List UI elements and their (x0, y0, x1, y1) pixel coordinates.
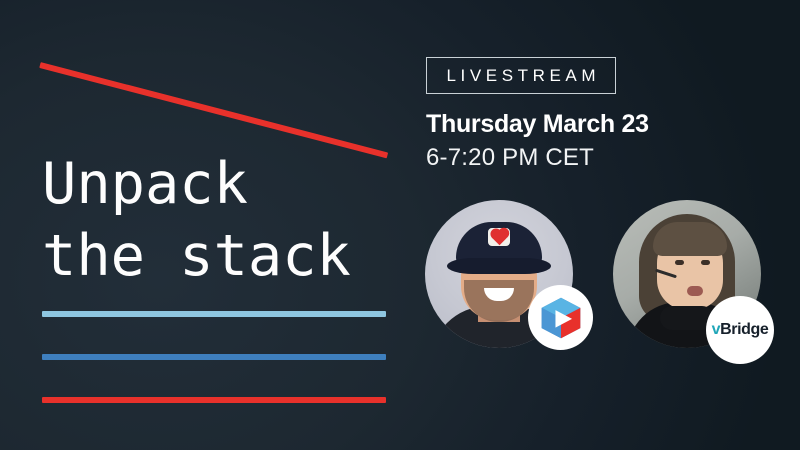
headline-line-1: Unpack (42, 148, 402, 220)
vbridge-bridge-letters: Bridge (720, 321, 768, 338)
right-details-panel: LIVESTREAM Thursday March 23 6-7:20 PM C… (410, 0, 800, 450)
vbridge-logo-badge: vBridge (706, 296, 774, 364)
page-title: Unpack the stack (42, 148, 402, 292)
uniform-logo-badge (528, 285, 593, 350)
livestream-promo-graphic: Unpack the stack LIVESTREAM Thursday Mar… (0, 0, 800, 450)
rule-spacer (42, 317, 386, 354)
portrait-eye-right (701, 260, 710, 265)
headline-line-2: the stack (42, 220, 402, 292)
decorative-rules-group (42, 311, 386, 403)
portrait-eye-left (675, 260, 684, 265)
vbridge-wordmark: vBridge (712, 321, 769, 339)
diagonal-red-stroke (39, 62, 388, 158)
left-title-panel: Unpack the stack (0, 0, 410, 450)
uniform-cube-icon (538, 295, 584, 341)
heart-shape (491, 229, 507, 245)
portrait-hair-front (653, 222, 727, 256)
speaker-card-elian-van-cutsem: vBridge Elian Van Cutsem @eliancodes (613, 200, 761, 348)
event-time: 6-7:20 PM CET (426, 144, 594, 172)
livestream-badge: LIVESTREAM (426, 57, 616, 94)
speaker-card-tim-benniks: Tim Benniks @timbenniks (425, 200, 573, 348)
portrait-mouth (687, 286, 703, 296)
vbridge-v-letter: v (712, 321, 721, 338)
heart-icon (488, 228, 510, 246)
rule-spacer (42, 360, 386, 397)
event-date: Thursday March 23 (426, 110, 649, 139)
livestream-badge-label: LIVESTREAM (442, 66, 600, 86)
rule-red (42, 397, 386, 403)
portrait-cap-brim (447, 258, 551, 274)
